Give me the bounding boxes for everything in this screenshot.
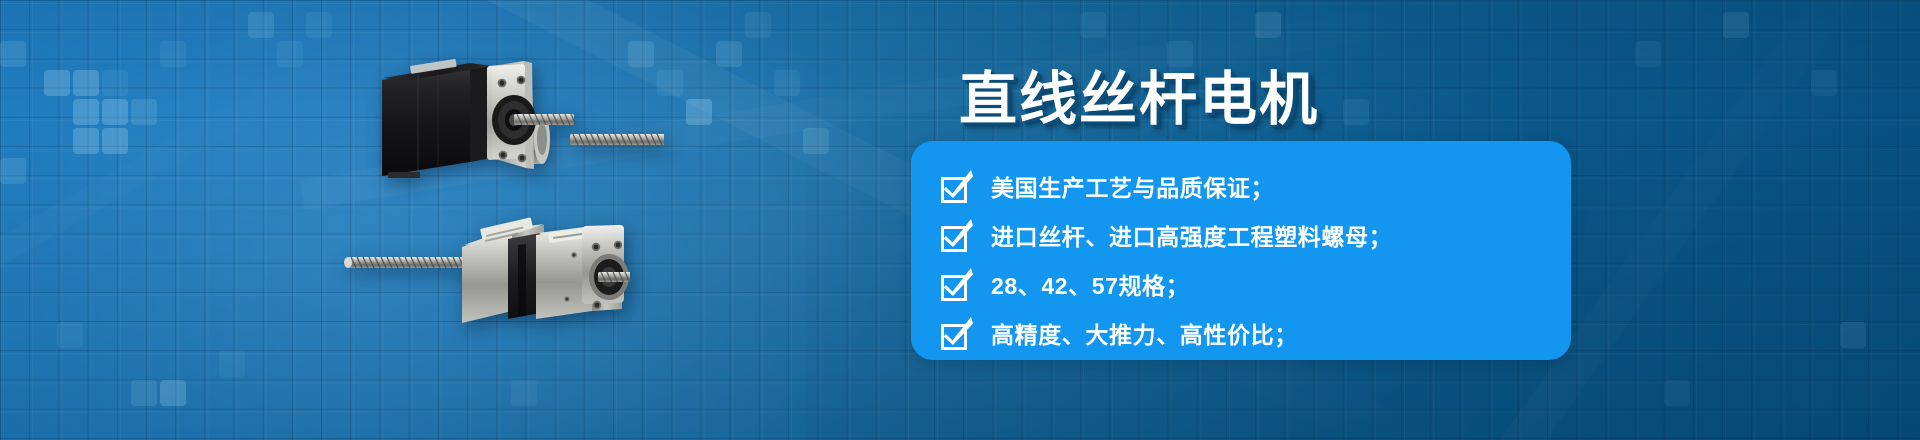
checkbox-checked-icon bbox=[941, 174, 971, 204]
feature-text: 28、42、57规格； bbox=[991, 275, 1189, 298]
checkbox-checked-icon bbox=[941, 223, 971, 253]
feature-text: 美国生产工艺与品质保证； bbox=[991, 177, 1274, 200]
banner-title: 直线丝杆电机 bbox=[959, 52, 1319, 136]
checkbox-checked-icon bbox=[941, 272, 971, 302]
feature-list-card: 美国生产工艺与品质保证； 进口丝杆、进口高强度工程塑料螺母； bbox=[911, 141, 1571, 360]
feature-text: 高精度、大推力、高性价比； bbox=[991, 324, 1298, 347]
product-image-black-motor bbox=[374, 50, 664, 190]
feature-item: 美国生产工艺与品质保证； bbox=[941, 166, 1543, 211]
product-banner: 直线丝杆电机 美国生产工艺与品质保证； 进口丝杆、进口 bbox=[0, 0, 1920, 440]
product-image-silver-motor bbox=[330, 195, 630, 330]
feature-item: 高精度、大推力、高性价比； bbox=[941, 313, 1543, 358]
feature-text: 进口丝杆、进口高强度工程塑料螺母； bbox=[991, 226, 1392, 249]
checkbox-checked-icon bbox=[941, 321, 971, 351]
banner-content: 直线丝杆电机 美国生产工艺与品质保证； 进口丝杆、进口 bbox=[903, 0, 1603, 440]
feature-item: 进口丝杆、进口高强度工程塑料螺母； bbox=[941, 215, 1543, 260]
feature-item: 28、42、57规格； bbox=[941, 264, 1543, 309]
